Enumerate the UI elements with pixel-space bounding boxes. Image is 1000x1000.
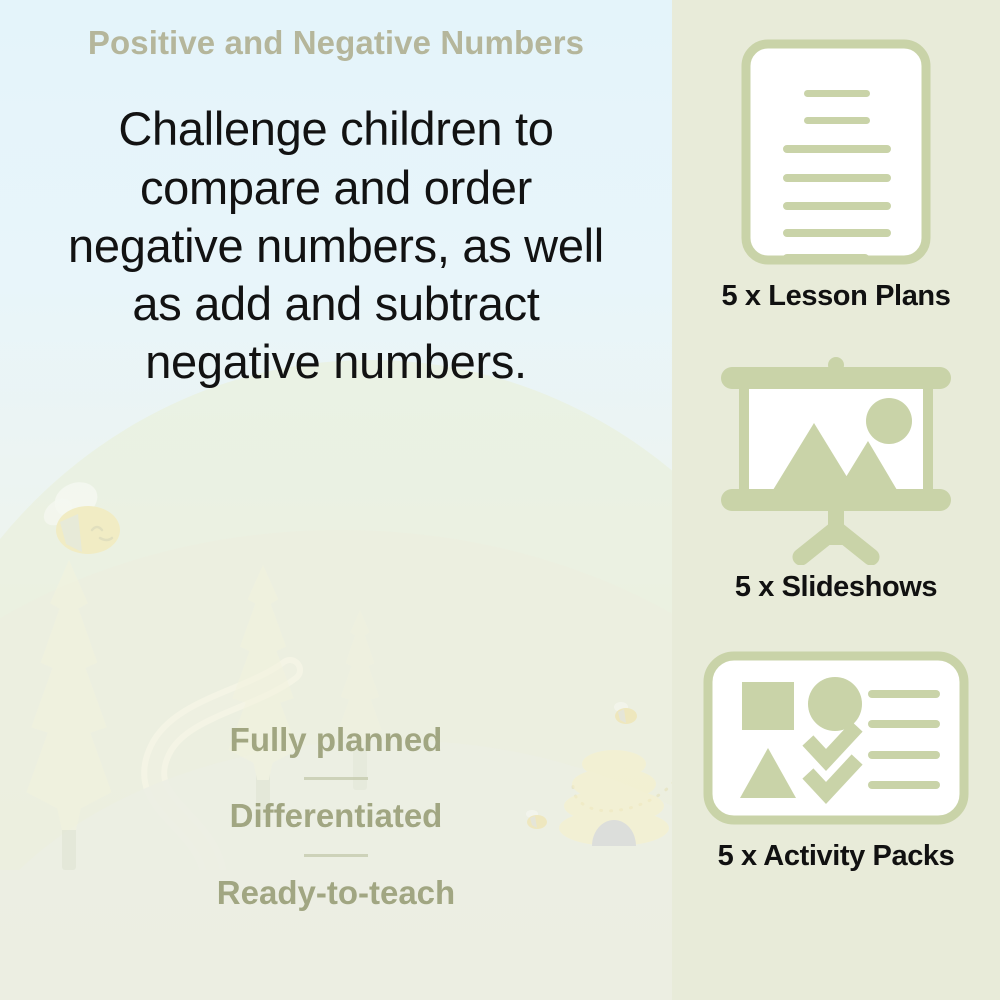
left-panel: Positive and Negative Numbers Challenge … [0, 0, 672, 1000]
feature-label-slideshows: 5 x Slideshows [735, 571, 937, 604]
projector-screen-icon-wrap [701, 351, 971, 567]
feature-slideshows: 5 x Slideshows [682, 351, 990, 604]
document-icon-wrap [740, 32, 932, 272]
right-panel: 5 x Lesson Plans [672, 0, 1000, 1000]
feature-activity-packs: 5 x Activity Packs [682, 642, 990, 873]
activity-card-icon-wrap [702, 642, 970, 834]
promo-graphic: Positive and Negative Numbers Challenge … [0, 0, 1000, 1000]
document-icon [740, 38, 932, 266]
projector-screen-icon [701, 353, 971, 565]
activity-card-icon [702, 650, 970, 826]
feature-label-activity-packs: 5 x Activity Packs [718, 840, 955, 873]
left-content: Positive and Negative Numbers Challenge … [0, 0, 672, 1000]
feature-lesson-plans: 5 x Lesson Plans [682, 32, 990, 313]
page-title: Positive and Negative Numbers [88, 22, 584, 64]
description-text: Challenge children to compare and order … [46, 100, 626, 391]
feature-label-lesson-plans: 5 x Lesson Plans [722, 280, 951, 313]
